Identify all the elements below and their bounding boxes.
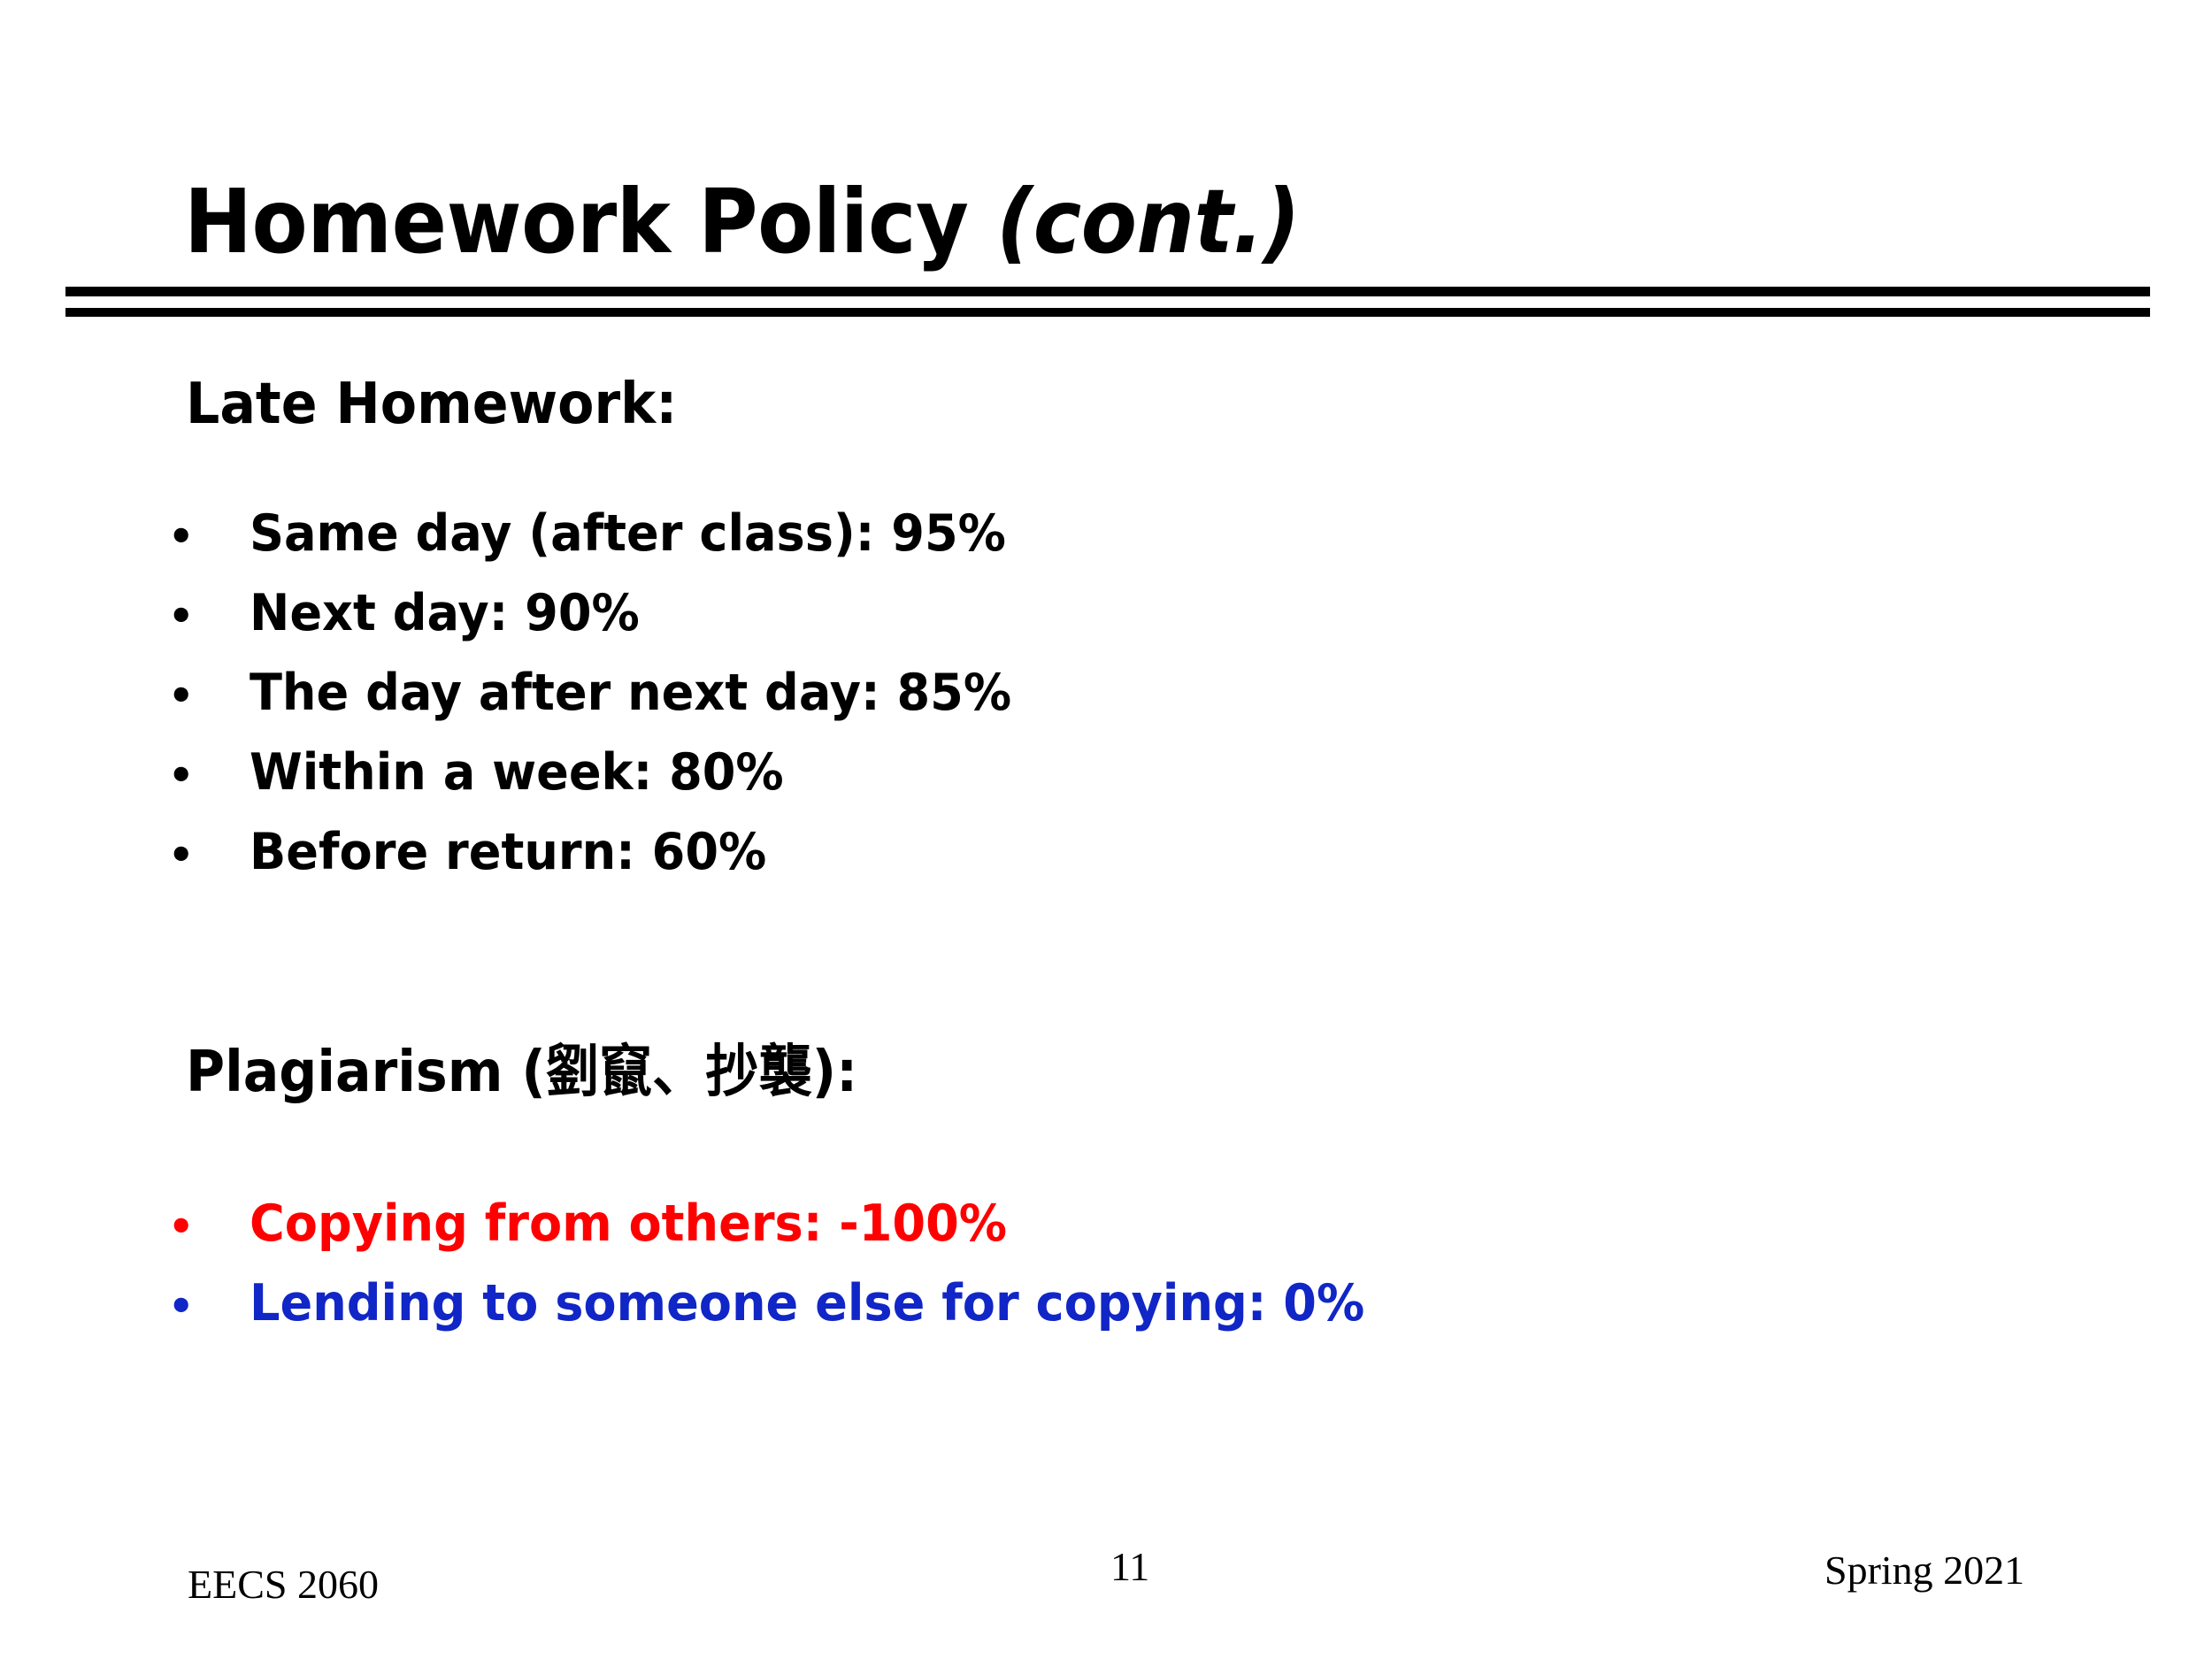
list-item-label: Same day (after class): 95% — [250, 494, 1006, 573]
late-homework-bullet-list: • Same day (after class): 95% • Next day… — [168, 494, 1051, 892]
list-item-label: Lending to someone else for copying: 0% — [250, 1263, 1364, 1343]
slide-footer: EECS 2060 11 Spring 2021 — [0, 1547, 2212, 1626]
footer-page-number: 11 — [1110, 1543, 1149, 1591]
list-item: • Next day: 90% — [168, 573, 1051, 653]
bullet-dot-icon: • — [168, 815, 188, 895]
footer-course-code: EECS 2060 — [188, 1561, 379, 1609]
bullet-dot-icon: • — [168, 1266, 188, 1346]
list-item: • Before return: 60% — [168, 812, 1051, 892]
list-item-label: Next day: 90% — [250, 573, 640, 653]
list-item-label: Within a week: 80% — [250, 733, 784, 812]
list-item-label: Before return: 60% — [250, 812, 766, 892]
title-divider — [65, 287, 2150, 317]
title-divider-rule-bottom — [65, 308, 2150, 317]
title-divider-gap — [65, 296, 2150, 308]
section-heading-plagiarism-cjk: 劉竄、抄襲 — [546, 1040, 812, 1105]
bullet-dot-icon: • — [168, 656, 188, 735]
section-heading-plagiarism-suffix: ): — [812, 1040, 858, 1105]
title-divider-rule-top — [65, 287, 2150, 296]
section-heading-plagiarism-prefix: Plagiarism ( — [186, 1040, 546, 1105]
bullet-dot-icon: • — [168, 1187, 188, 1266]
bullet-dot-icon: • — [168, 496, 188, 576]
page-title-continuation: (cont.) — [996, 170, 1300, 273]
slide-canvas: Homework Policy (cont.) Late Homework: •… — [0, 0, 2212, 1659]
list-item: • Same day (after class): 95% — [168, 494, 1051, 573]
footer-term: Spring 2021 — [1824, 1547, 2024, 1594]
page-title: Homework Policy (cont.) — [184, 173, 1300, 271]
section-heading-late-homework: Late Homework: — [186, 372, 677, 437]
list-item: • The day after next day: 85% — [168, 653, 1051, 733]
list-item-label: The day after next day: 85% — [250, 653, 1011, 733]
list-item: • Lending to someone else for copying: 0… — [168, 1263, 1424, 1343]
page-title-main: Homework Policy — [184, 170, 996, 273]
list-item-label: Copying from others: -100% — [250, 1184, 1007, 1263]
bullet-dot-icon: • — [168, 735, 188, 815]
list-item: • Within a week: 80% — [168, 733, 1051, 812]
list-item: • Copying from others: -100% — [168, 1184, 1424, 1263]
plagiarism-bullet-list: • Copying from others: -100% • Lending t… — [168, 1184, 1424, 1343]
bullet-dot-icon: • — [168, 576, 188, 656]
section-heading-plagiarism: Plagiarism (劉竄、抄襲): — [186, 1040, 857, 1105]
